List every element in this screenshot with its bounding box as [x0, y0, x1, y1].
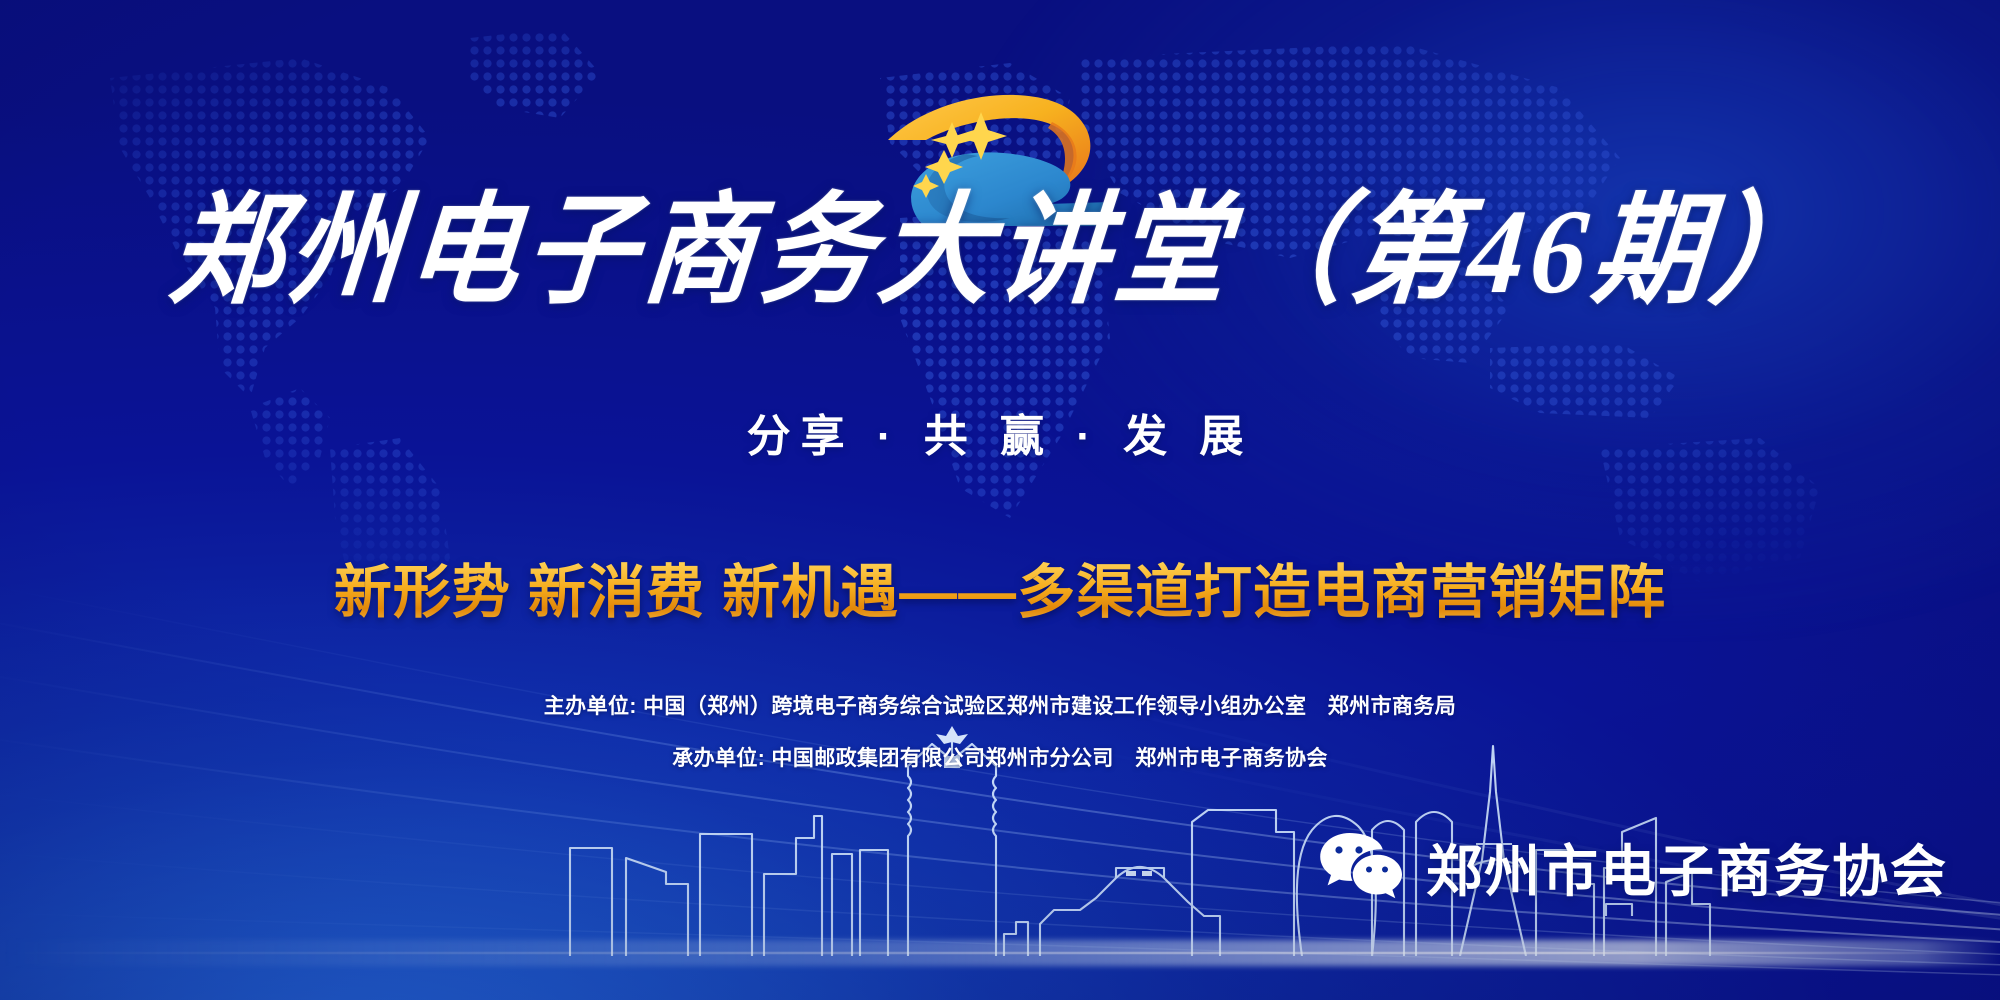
- horizon-line: [0, 952, 2000, 954]
- organizer-line: 主办单位: 中国（郑州）跨境电子商务综合试验区郑州市建设工作领导小组办公室 郑州…: [0, 690, 2000, 720]
- subtitle-slogan-block: 分享 · 共 赢 · 发 展: [0, 400, 2000, 464]
- subtitle-slogan: 分享 · 共 赢 · 发 展: [747, 400, 1254, 464]
- page-title: 郑州电子商务大讲堂（第46期）: [166, 192, 1835, 313]
- session-headline: 新形势 新消费 新机遇——多渠道打造电商营销矩阵: [334, 545, 1666, 629]
- main-title-block: 郑州电子商务大讲堂（第46期）: [0, 196, 2000, 308]
- poster-canvas: 郑州电子商务大讲堂（第46期） 分享 · 共 赢 · 发 展 新形势 新消费 新…: [0, 0, 2000, 1000]
- wechat-account-block[interactable]: 郑州市电子商务协会: [1318, 827, 1948, 908]
- wechat-icon: [1318, 831, 1404, 905]
- credits-block: 主办单位: 中国（郑州）跨境电子商务综合试验区郑州市建设工作领导小组办公室 郑州…: [0, 690, 2000, 794]
- wechat-account-label: 郑州市电子商务协会: [1426, 827, 1948, 908]
- headline-block: 新形势 新消费 新机遇——多渠道打造电商营销矩阵: [0, 545, 2000, 629]
- co-organizer-line: 承办单位: 中国邮政集团有限公司郑州市分公司 郑州市电子商务协会: [0, 742, 2000, 772]
